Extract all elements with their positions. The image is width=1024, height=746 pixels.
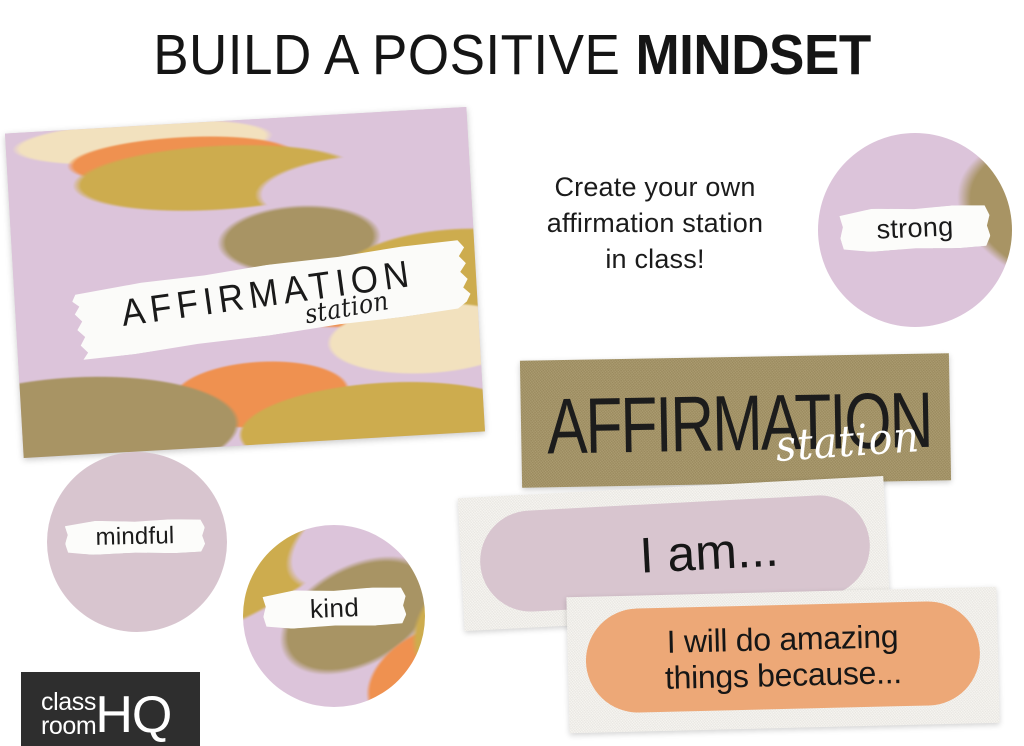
card-amazing-line-1: I will do amazing <box>666 618 898 660</box>
tape-label-strong: strong <box>839 204 991 253</box>
promo-subtext-line-2: affirmation station <box>505 206 805 242</box>
promo-subtext-line-1: Create your own <box>505 170 805 206</box>
logo-hq-mark: HQ <box>95 685 171 745</box>
badge-circle-mindful: mindful <box>47 452 227 632</box>
page-title-light: BUILD A POSITIVE <box>153 23 635 87</box>
logo-inner: class room HQ <box>41 683 171 745</box>
card-amazing-things: I will do amazing things because... <box>566 587 999 733</box>
card-amazing-line-2: things because... <box>665 654 903 696</box>
pill-orange: I will do amazing things because... <box>585 600 981 714</box>
tape-label-kind: kind <box>262 586 406 629</box>
badge-circle-strong: strong <box>818 133 1012 327</box>
logo-line-2: room <box>41 714 96 739</box>
classroomhq-logo: class room HQ <box>21 672 200 746</box>
tape-label-mindful: mindful <box>65 519 206 556</box>
gold-banner-script: station <box>774 412 921 472</box>
logo-wordmark: class room <box>41 690 96 739</box>
promo-subtext: Create your own affirmation station in c… <box>505 170 805 278</box>
promo-subtext-line-3: in class! <box>505 242 805 278</box>
badge-circle-kind: kind <box>243 525 425 707</box>
card-i-am-text: I am... <box>638 519 780 584</box>
gold-affirmation-banner: AFFIRMATION station <box>520 353 951 487</box>
logo-line-1: class <box>41 690 96 715</box>
page-title: BUILD A POSITIVE MINDSET <box>36 22 988 88</box>
poster-canvas: BUILD A POSITIVE MINDSET Create your own… <box>0 0 1024 745</box>
page-title-heavy: MINDSET <box>635 23 870 87</box>
affirmation-station-poster: AFFIRMATION station <box>5 107 485 458</box>
